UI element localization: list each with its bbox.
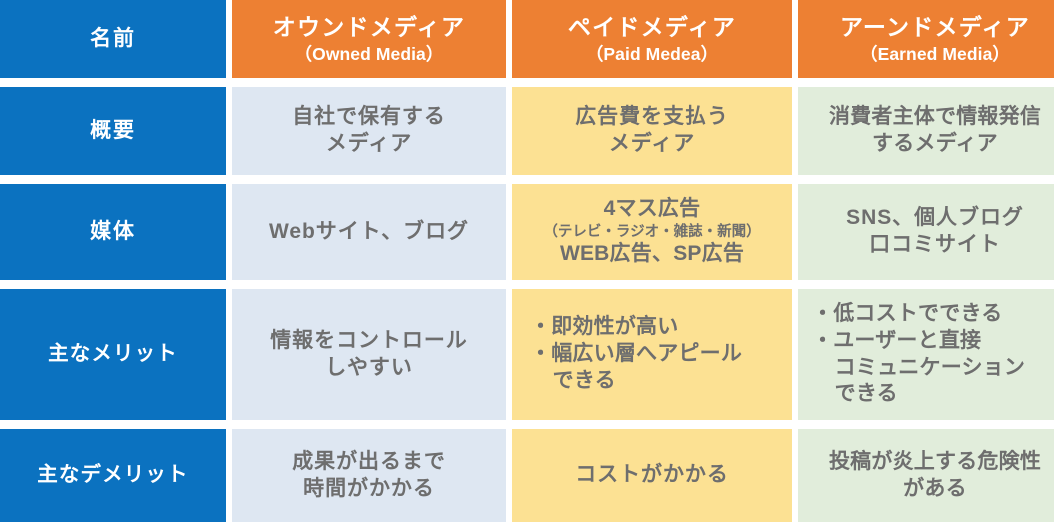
cell-overview-owned: 自社で保有する メディア [232, 87, 506, 175]
cell-demerits-earned: 投稿が炎上する危険性 がある [798, 429, 1054, 522]
comparison-table: 名前 オウンドメディア （Owned Media） ペイドメディア （Paid … [0, 0, 1054, 486]
cell-demerits-owned: 成果が出るまで 時間がかかる [232, 429, 506, 522]
cell-merits-earned: ・低コストでできる ・ユーザーと直接 コミュニケーション できる [798, 289, 1054, 420]
table-header-name: 名前 [0, 0, 226, 78]
header-paid-en: （Paid Medea） [586, 43, 718, 65]
cell-overview-paid: 広告費を支払う メディア [512, 87, 792, 175]
cell-merits-earned-text: ・低コストでできる ・ユーザーと直接 コミュニケーション できる [812, 301, 1025, 409]
cell-media-type-earned-text: SNS、個人ブログ 口コミサイト [846, 205, 1024, 259]
cell-overview-owned-text: 自社で保有する メディア [292, 104, 446, 158]
row-label-merits-text: 主なメリット [48, 341, 178, 367]
header-earned-jp: アーンドメディア [840, 13, 1030, 42]
row-label-overview: 概要 [0, 87, 226, 175]
header-owned-en: （Owned Media） [295, 43, 444, 65]
cell-media-type-owned-text: Webサイト、ブログ [269, 219, 469, 246]
cell-overview-earned-text: 消費者主体で情報発信 するメディア [829, 104, 1041, 158]
header-owned-jp: オウンドメディア [273, 13, 466, 42]
cell-media-type-paid: 4マス広告 （テレビ・ラジオ・雑誌・新聞） WEB広告、SP広告 [512, 184, 792, 280]
cell-merits-paid: ・即効性が高い ・幅広い層へアピール できる [512, 289, 792, 420]
table-grid: 名前 オウンドメディア （Owned Media） ペイドメディア （Paid … [0, 0, 1054, 522]
header-earned-en: （Earned Media） [860, 43, 1010, 65]
cell-merits-owned-text: 情報をコントロール しやすい [270, 328, 468, 382]
cell-overview-paid-text: 広告費を支払う メディア [575, 104, 729, 158]
table-header-owned-media: オウンドメディア （Owned Media） [232, 0, 506, 78]
header-label-name: 名前 [90, 26, 136, 53]
table-header-paid-media: ペイドメディア （Paid Medea） [512, 0, 792, 78]
cell-demerits-earned-text: 投稿が炎上する危険性 がある [829, 449, 1041, 503]
cell-demerits-owned-text: 成果が出るまで 時間がかかる [292, 449, 446, 503]
cell-media-type-owned: Webサイト、ブログ [232, 184, 506, 280]
row-label-media-type-text: 媒体 [90, 219, 136, 246]
row-label-demerits: 主なデメリット [0, 429, 226, 522]
cell-media-type-paid-subtext: （テレビ・ラジオ・雑誌・新聞） [543, 223, 760, 241]
table-header-earned-media: アーンドメディア （Earned Media） [798, 0, 1054, 78]
row-label-demerits-text: 主なデメリット [37, 462, 188, 488]
row-label-merits: 主なメリット [0, 289, 226, 420]
cell-demerits-paid: コストがかかる [512, 429, 792, 522]
cell-media-type-paid-text: 4マス広告 （テレビ・ラジオ・雑誌・新聞） WEB広告、SP広告 [543, 196, 760, 268]
row-label-overview-text: 概要 [90, 118, 136, 145]
cell-demerits-paid-text: コストがかかる [575, 462, 729, 489]
row-label-media-type: 媒体 [0, 184, 226, 280]
header-paid-jp: ペイドメディア [568, 13, 736, 42]
cell-merits-paid-text: ・即効性が高い ・幅広い層へアピール できる [530, 314, 742, 395]
cell-overview-earned: 消費者主体で情報発信 するメディア [798, 87, 1054, 175]
cell-merits-owned: 情報をコントロール しやすい [232, 289, 506, 420]
cell-media-type-earned: SNS、個人ブログ 口コミサイト [798, 184, 1054, 280]
